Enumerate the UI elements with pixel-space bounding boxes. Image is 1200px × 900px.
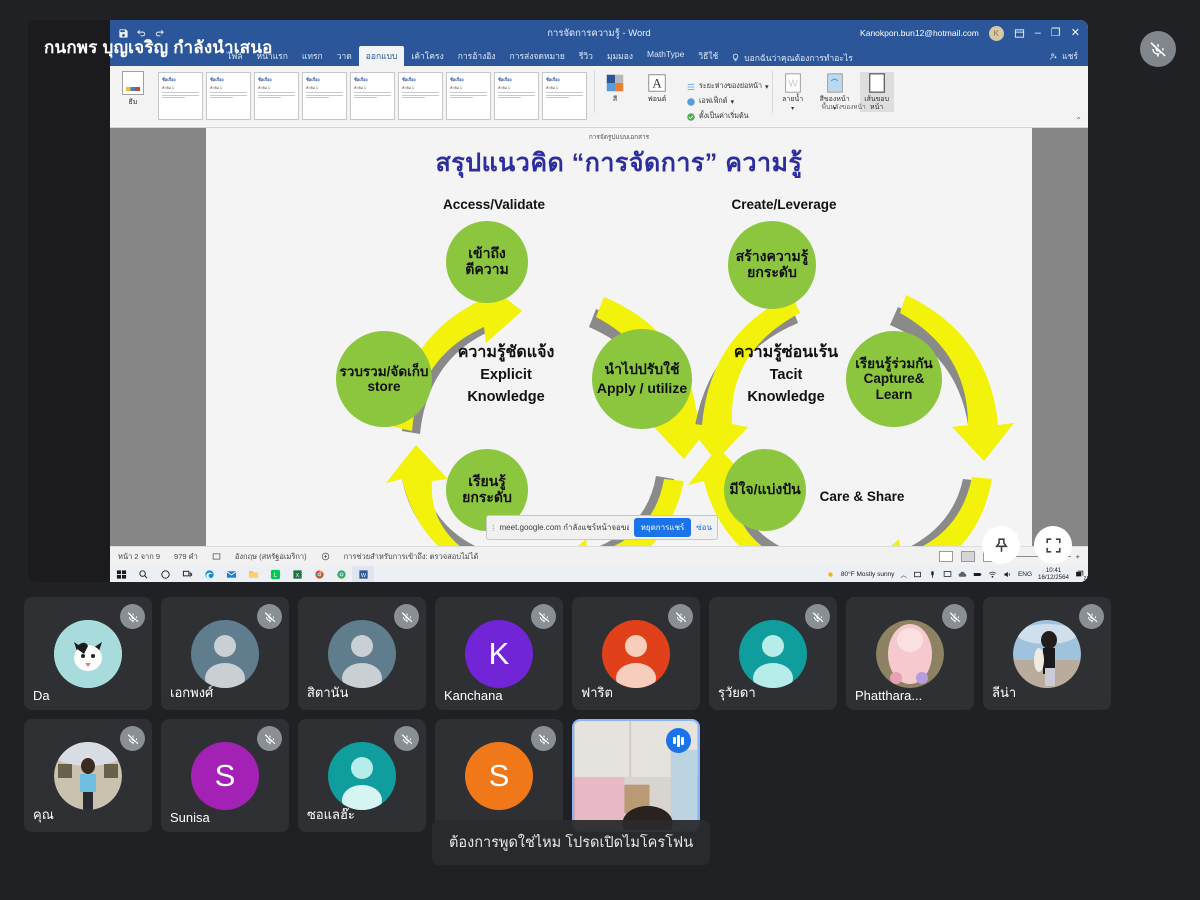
caption-access-validate: Access/Validate	[386, 197, 602, 212]
node-line2: ตีความ	[465, 262, 508, 278]
mic-off-icon	[1079, 604, 1104, 629]
tab-mathtype[interactable]: MathType	[640, 46, 691, 66]
page-borders-icon	[866, 72, 888, 94]
profile-photo-icon	[54, 742, 122, 810]
drag-handle-icon[interactable]: ⁞	[492, 523, 495, 533]
mic-off-icon	[942, 604, 967, 629]
group-label-en2: Knowledge	[416, 387, 596, 409]
tab-review[interactable]: รีวิว	[572, 46, 600, 66]
profile-photo-icon	[1013, 620, 1081, 688]
avatar-initial: S	[489, 758, 510, 794]
style-swatch[interactable]: ชื่อเรื่อง หัวข้อ 1	[206, 72, 251, 120]
effects-label: เอฟเฟ็กต์	[699, 96, 727, 107]
caption-create-leverage: Create/Leverage	[676, 197, 892, 212]
participant-name: ลีน่า	[992, 682, 1016, 703]
screen-share-notification[interactable]: ⁞ meet.google.com กำลังแชร์หน้าจอของคุณ …	[486, 515, 718, 540]
participant-name: Kanchana	[444, 688, 503, 703]
language-indicator[interactable]: อังกฤษ (สหรัฐอเมริกา)	[235, 551, 307, 563]
clock-time: 10:41	[1038, 567, 1069, 574]
restore-button[interactable]: ❐	[1051, 28, 1061, 39]
person-icon	[328, 620, 396, 688]
svg-text:W: W	[788, 79, 798, 90]
accessibility-status[interactable]: การช่วยสำหรับการเข้าถึง: ตรวจสอบไม่ได้	[344, 551, 479, 563]
presenter-banner: กนกพร บุญเจริญ กำลังนำเสนอ	[44, 34, 273, 61]
style-swatch[interactable]: ชื่อเรื่อง หัวข้อ 1	[542, 72, 587, 120]
mic-off-icon	[394, 726, 419, 751]
ribbon-display-options-icon[interactable]	[1014, 28, 1025, 39]
themes-icon	[122, 71, 144, 95]
node-line2: Apply / utilize	[597, 381, 687, 397]
style-set-gallery[interactable]: ชื่อเรื่อง หัวข้อ 1 ชื่อเรื่อง หัวข้อ 1 …	[152, 66, 591, 120]
colors-label: สี	[613, 96, 617, 104]
node-line1: นำไปปรับใช้	[605, 362, 680, 378]
style-swatch-title: ชื่อเรื่อง	[402, 76, 439, 83]
page-background-group[interactable]: W ลายน้ำ▾ สีของหน้า▾ เส้นขอบหน้า พื้นหลั…	[776, 66, 912, 113]
set-default-item[interactable]: ตั้งเป็นค่าเริ่มต้น	[686, 111, 769, 122]
edge-icon[interactable]	[198, 566, 220, 582]
style-swatch[interactable]: ชื่อเรื่อง หัวข้อ 1	[254, 72, 299, 120]
effects-icon	[686, 97, 696, 107]
participant-name: Phatthara...	[855, 688, 922, 703]
person-icon	[191, 620, 259, 688]
excel-icon[interactable]: X	[286, 566, 308, 582]
mic-off-icon	[257, 726, 282, 751]
tab-insert[interactable]: แทรก	[295, 46, 330, 66]
node-care-share: มีใจ/แบ่งปัน	[724, 449, 806, 531]
speaking-indicator-icon	[666, 728, 691, 753]
participant-tile[interactable]: ซอแลฮ๊ะ	[298, 719, 426, 832]
style-swatch[interactable]: ชื่อเรื่อง หัวข้อ 1	[158, 72, 203, 120]
node-line1: เรียนรู้	[468, 474, 506, 490]
word-status-bar[interactable]: หน้า 2 จาก 9 979 คำ อังกฤษ (สหรัฐอเมริกา…	[110, 546, 1088, 566]
tab-references[interactable]: การอ้างอิง	[451, 46, 503, 66]
file-explorer-icon[interactable]	[242, 566, 264, 582]
avatar	[54, 620, 122, 688]
avatar-initial: K	[489, 636, 510, 672]
group-label-en1: Tacit	[696, 365, 876, 387]
themes-label: ธีม	[129, 97, 138, 108]
style-swatch[interactable]: ชื่อเรื่อง หัวข้อ 1	[446, 72, 491, 120]
page-header-text: การจัดรูปแบบเอกสาร	[206, 128, 1032, 142]
document-page: การจัดรูปแบบเอกสาร สรุปแนวคิด “การจัดการ…	[206, 128, 1032, 546]
participant-name: Da	[33, 688, 50, 703]
clock[interactable]: 10:41 16/12/2564	[1038, 567, 1069, 581]
participant-row: Da เอกพงศ์ สิตานัน K	[24, 597, 1184, 710]
participant-name: คุณ	[33, 804, 54, 825]
hide-sharing-button[interactable]: ซ่อน	[696, 521, 712, 534]
weather-icon[interactable]	[826, 570, 835, 579]
group-label-thai: ความรู้ซ่อนเร้น	[696, 341, 876, 365]
participant-tile-grid[interactable]: Da เอกพงศ์ สิตานัน K	[24, 597, 1184, 841]
participant-tile-active-video[interactable]	[572, 719, 700, 832]
group-label-en2: Knowledge	[696, 387, 876, 409]
style-swatch-title: ชื่อเรื่อง	[258, 76, 295, 83]
participant-tile[interactable]: สิตานัน	[298, 597, 426, 710]
group-label-en1: Explicit	[416, 365, 596, 387]
share-label: แชร์	[1062, 49, 1078, 63]
participant-tile[interactable]: Da	[24, 597, 152, 710]
fonts-button[interactable]: A ฟอนต์	[640, 72, 674, 104]
onedrive-tray-icon[interactable]	[913, 570, 922, 579]
paragraph-spacing-icon	[686, 82, 696, 92]
weather-text[interactable]: 80°F Mostly sunny	[841, 571, 895, 578]
style-swatch-title: ชื่อเรื่อง	[162, 76, 199, 83]
chrome-icon[interactable]	[308, 566, 330, 582]
profile-photo-icon	[876, 620, 944, 688]
document-canvas[interactable]: การจัดรูปแบบเอกสาร สรุปแนวคิด “การจัดการ…	[110, 128, 1088, 546]
paragraph-spacing-item[interactable]: ระยะห่างของย่อหน้า▾	[686, 81, 769, 92]
participant-tile[interactable]: K Kanchana	[435, 597, 563, 710]
mic-off-icon	[805, 604, 830, 629]
fullscreen-icon	[1044, 536, 1063, 555]
line-icon[interactable]: L	[264, 566, 286, 582]
style-swatch-title: ชื่อเรื่อง	[498, 76, 535, 83]
avatar	[876, 620, 944, 688]
avatar	[328, 620, 396, 688]
node-access-interpret: เข้าถึง ตีความ	[446, 221, 528, 303]
pin-icon	[992, 536, 1011, 555]
close-button[interactable]: ✕	[1071, 28, 1080, 39]
tab-layout[interactable]: เค้าโครง	[404, 46, 450, 66]
avatar	[191, 620, 259, 688]
mic-off-icon	[120, 604, 145, 629]
accessibility-icon[interactable]	[321, 552, 330, 561]
group-label-tacit: ความรู้ซ่อนเร้น Tacit Knowledge	[696, 341, 876, 409]
collapse-ribbon-icon[interactable]: ⌃	[1075, 116, 1082, 125]
participant-tile[interactable]: คุณ	[24, 719, 152, 832]
ribbon-design[interactable]: ธีม ชื่อเรื่อง หัวข้อ 1 ชื่อเรื่อง หัวข้…	[110, 66, 1088, 128]
tell-me-label: บอกฉันว่าคุณต้องการทำอะไร	[744, 51, 853, 65]
watermark-icon: W	[782, 72, 804, 94]
ribbon-divider	[772, 70, 773, 113]
person-share-icon	[1049, 52, 1058, 61]
themes-button[interactable]: ธีม	[118, 71, 148, 108]
read-mode-button[interactable]	[939, 551, 953, 562]
svg-text:X: X	[295, 572, 299, 578]
node-create-knowledge: สร้างความรู้ ยกระดับ	[728, 221, 816, 309]
participant-name: รุวัยดา	[718, 682, 756, 703]
tab-view[interactable]: มุมมอง	[600, 46, 640, 66]
avatar	[54, 742, 122, 810]
task-view-icon[interactable]	[176, 566, 198, 582]
avatar-initial: S	[215, 758, 236, 794]
mic-off-icon	[394, 604, 419, 629]
participant-row: คุณ S Sunisa ซอแลฮ๊ะ S	[24, 719, 1184, 832]
formatting-options-list[interactable]: ระยะห่างของย่อหน้า▾ เอฟเฟ็กต์▾ ตั้งเป็นค…	[682, 72, 769, 122]
google-meet-screen: กนกพร บุญเจริญ กำลังนำเสนอ การจัดการความ…	[0, 0, 1200, 900]
mic-tooltip: ต้องการพูดใช่ไหม โปรดเปิดไมโครโฟน	[432, 820, 710, 865]
person-icon	[739, 620, 807, 688]
avatar	[739, 620, 807, 688]
account-email: Kanokpon.bun12@hotmail.com	[860, 28, 979, 38]
style-swatch-title: ชื่อเรื่อง	[354, 76, 391, 83]
avatar: S	[465, 742, 533, 810]
group-label-thai: ความรู้ชัดแจ้ง	[416, 341, 596, 365]
notification-center-icon[interactable]: 21	[1075, 570, 1084, 579]
zoom-in-icon[interactable]: +	[1076, 552, 1080, 561]
participant-tile[interactable]: Phatthara...	[846, 597, 974, 710]
node-line2: ยกระดับ	[747, 265, 797, 281]
caption-care-share: Care & Share	[782, 489, 942, 504]
mic-off-icon	[120, 726, 145, 751]
document-formatting-group[interactable]: สี A ฟอนต์ ระยะห่างของย่อหน้า▾ เอฟเ	[598, 66, 769, 122]
tray-expand-icon[interactable]: ︿	[900, 569, 907, 579]
cortana-icon[interactable]	[154, 566, 176, 582]
print-layout-button[interactable]	[961, 551, 975, 562]
tell-me-search[interactable]: บอกฉันว่าคุณต้องการทำอะไร	[725, 46, 859, 66]
themes-group[interactable]: ธีม	[110, 66, 152, 108]
font-icon: A	[646, 72, 668, 94]
tab-help[interactable]: วิธีใช้	[691, 46, 725, 66]
fullscreen-button[interactable]	[1034, 526, 1072, 564]
set-default-label: ตั้งเป็นค่าเริ่มต้น	[699, 111, 749, 122]
mic-off-icon	[1140, 31, 1176, 67]
mic-off-icon	[531, 726, 556, 751]
language-indicator[interactable]: ENG	[1018, 571, 1032, 578]
participant-name: ซอแลฮ๊ะ	[307, 804, 355, 825]
stop-sharing-button[interactable]: หยุดการแชร์	[634, 518, 692, 537]
word-count[interactable]: 979 คำ	[174, 551, 198, 563]
slide-title: สรุปแนวคิด “การจัดการ” ความรู้	[206, 143, 1032, 183]
pin-button[interactable]	[982, 526, 1020, 564]
ribbon-divider	[594, 70, 595, 113]
svg-text:A: A	[652, 77, 662, 91]
participant-tile[interactable]: S Sunisa	[161, 719, 289, 832]
avatar	[602, 620, 670, 688]
tab-draw[interactable]: วาด	[330, 46, 359, 66]
participant-name: เอกพงศ์	[170, 682, 213, 703]
participant-tile[interactable]: รุวัยดา	[709, 597, 837, 710]
participant-tile[interactable]: เอกพงศ์	[161, 597, 289, 710]
participant-tile[interactable]: ลีน่า	[983, 597, 1111, 710]
share-button[interactable]: แชร์	[1049, 46, 1088, 66]
system-tray[interactable]: 80°F Mostly sunny ︿ ENG 10:41 16/12/2564	[826, 567, 1088, 581]
volume-icon[interactable]	[1003, 570, 1012, 579]
colors-button[interactable]: สี	[598, 72, 632, 104]
node-line2: store	[367, 379, 400, 394]
paragraph-spacing-label: ระยะห่างของย่อหน้า	[699, 81, 762, 92]
account-avatar[interactable]: K	[989, 26, 1004, 41]
participant-name: ฟาริต	[581, 682, 613, 703]
mail-icon[interactable]	[220, 566, 242, 582]
node-apply-utilize: นำไปปรับใช้ Apply / utilize	[592, 329, 692, 429]
share-notification-text: meet.google.com กำลังแชร์หน้าจอของคุณ	[500, 521, 629, 534]
word-window: การจัดการความรู้ - Word Kanokpon.bun12@h…	[110, 20, 1088, 582]
set-default-icon	[686, 112, 696, 122]
style-swatch-title: ชื่อเรื่อง	[450, 76, 487, 83]
stage-action-buttons[interactable]	[982, 526, 1072, 564]
person-icon	[328, 742, 396, 810]
notification-count: 21	[1083, 576, 1088, 582]
mic-off-icon	[531, 604, 556, 629]
search-icon[interactable]	[132, 566, 154, 582]
windows-taskbar[interactable]: L X W 80°F Mostly sunny ︿ ENG	[110, 566, 1088, 582]
style-swatch[interactable]: ชื่อเรื่อง หัวข้อ 1	[350, 72, 395, 120]
knowledge-management-diagram: Access/Validate Create/Leverage Care & S…	[206, 191, 1032, 546]
watermark-button[interactable]: W ลายน้ำ▾	[776, 72, 810, 113]
chrome-beta-icon[interactable]	[330, 566, 352, 582]
cloud-icon[interactable]	[958, 570, 967, 579]
colors-icon	[604, 72, 626, 94]
shared-screen-stage[interactable]: การจัดการความรู้ - Word Kanokpon.bun12@h…	[28, 20, 1088, 582]
wifi-icon[interactable]	[988, 570, 997, 579]
node-line1: เข้าถึง	[468, 246, 506, 262]
display-settings-icon[interactable]	[943, 570, 952, 579]
mic-off-icon	[668, 604, 693, 629]
fonts-label: ฟอนต์	[648, 96, 667, 104]
cat-photo-icon	[54, 620, 122, 688]
style-swatch-title: ชื่อเรื่อง	[210, 76, 247, 83]
style-swatch-title: ชื่อเรื่อง	[306, 76, 343, 83]
group-label-explicit: ความรู้ชัดแจ้ง Explicit Knowledge	[416, 341, 596, 409]
participant-tile[interactable]: ฟาริต	[572, 597, 700, 710]
node-line1: สร้างความรู้	[736, 249, 809, 265]
word-icon[interactable]: W	[352, 566, 374, 582]
participant-tile[interactable]: S	[435, 719, 563, 832]
node-line1: มีใจ/แบ่งปัน	[729, 482, 800, 498]
participant-name: สิตานัน	[307, 682, 348, 703]
person-icon	[602, 620, 670, 688]
page-background-group-label: พื้นหลังของหน้า	[822, 102, 866, 112]
avatar: S	[191, 742, 259, 810]
proofing-icon[interactable]	[212, 552, 221, 561]
avatar	[328, 742, 396, 810]
avatar	[1013, 620, 1081, 688]
clock-date: 16/12/2564	[1038, 574, 1069, 581]
mic-off-icon	[257, 604, 282, 629]
node-line2: ยกระดับ	[462, 490, 512, 506]
svg-text:W: W	[360, 572, 366, 578]
lightbulb-icon	[731, 53, 740, 62]
style-swatch[interactable]: ชื่อเรื่อง หัวข้อ 1	[302, 72, 347, 120]
watermark-label: ลายน้ำ	[782, 96, 803, 104]
tab-design[interactable]: ออกแบบ	[359, 46, 405, 66]
battery-icon[interactable]	[973, 570, 982, 579]
style-swatch[interactable]: ชื่อเรื่อง หัวข้อ 1	[398, 72, 443, 120]
minimize-button[interactable]: –	[1035, 28, 1041, 39]
start-icon[interactable]	[110, 566, 132, 582]
tab-mailings[interactable]: การส่งจดหมาย	[503, 46, 572, 66]
usb-icon[interactable]	[928, 570, 937, 579]
style-swatch-title: ชื่อเรื่อง	[546, 76, 583, 83]
page-color-icon	[824, 72, 846, 94]
participant-name: Sunisa	[170, 810, 210, 825]
page-indicator[interactable]: หน้า 2 จาก 9	[118, 551, 160, 563]
style-swatch[interactable]: ชื่อเรื่อง หัวข้อ 1	[494, 72, 539, 120]
avatar: K	[465, 620, 533, 688]
effects-item[interactable]: เอฟเฟ็กต์▾	[686, 96, 769, 107]
